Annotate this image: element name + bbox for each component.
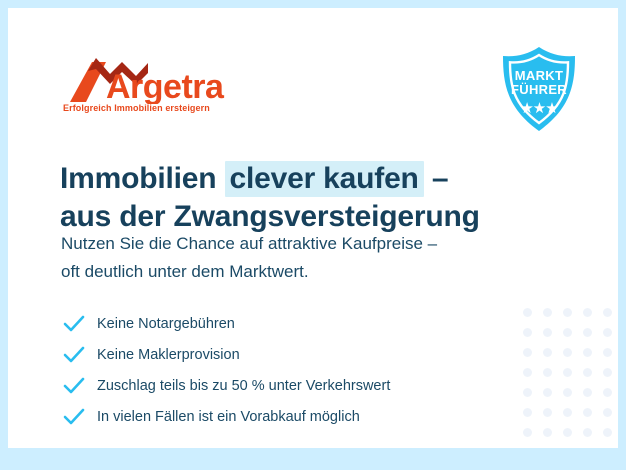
- decor-dot: [583, 368, 592, 377]
- decor-dot: [603, 328, 612, 337]
- badge-line-1: MARKT: [497, 68, 581, 83]
- decor-dot: [563, 348, 572, 357]
- decor-dot: [583, 408, 592, 417]
- banner-card: Argetra Erfolgreich Immobilien ersteiger…: [8, 8, 618, 448]
- decor-dot: [603, 388, 612, 397]
- decor-dot: [583, 428, 592, 437]
- headline-text-after: –: [432, 162, 449, 195]
- decorative-dot-grid: [523, 308, 613, 448]
- decor-dot: [523, 348, 532, 357]
- subheading-line-2: oft deutlich unter dem Marktwert.: [61, 258, 571, 286]
- decor-dot: [543, 348, 552, 357]
- decor-dot: [603, 368, 612, 377]
- decor-dot: [603, 348, 612, 357]
- decor-dot: [583, 388, 592, 397]
- svg-text:Argetra: Argetra: [106, 68, 225, 104]
- decor-dot: [563, 368, 572, 377]
- headline-text-before: Immobilien: [60, 162, 216, 195]
- check-icon: [63, 375, 89, 397]
- check-icon: [63, 313, 89, 335]
- decor-dot: [523, 428, 532, 437]
- badge-line-2: FÜHRER: [497, 82, 581, 97]
- benefit-label: Zuschlag teils bis zu 50 % unter Verkehr…: [97, 376, 390, 396]
- decor-dot: [563, 408, 572, 417]
- decor-dot: [603, 428, 612, 437]
- decor-dot: [523, 308, 532, 317]
- decor-dot: [523, 388, 532, 397]
- page-title: Immobilien clever kaufen – aus der Zwang…: [60, 160, 560, 236]
- decor-dot: [563, 428, 572, 437]
- subheading-line-1: Nutzen Sie die Chance auf attraktive Kau…: [61, 230, 571, 258]
- market-leader-badge: MARKT FÜHRER ★★★: [497, 44, 581, 134]
- decor-dot: [523, 328, 532, 337]
- list-item: Keine Notargebühren: [63, 308, 513, 339]
- headline-highlight: clever kaufen: [225, 161, 424, 197]
- decor-dot: [583, 348, 592, 357]
- benefit-label: In vielen Fällen ist ein Vorabkauf mögli…: [97, 407, 360, 427]
- check-icon: [63, 344, 89, 366]
- decor-dot: [543, 328, 552, 337]
- logo-tagline: Erfolgreich Immobilien ersteigern: [63, 103, 210, 113]
- list-item: In vielen Fällen ist ein Vorabkauf mögli…: [63, 401, 513, 432]
- decor-dot: [523, 408, 532, 417]
- decor-dot: [543, 388, 552, 397]
- benefit-label: Keine Maklerprovision: [97, 345, 240, 365]
- decor-dot: [543, 428, 552, 437]
- badge-stars: ★★★: [497, 99, 581, 117]
- decor-dot: [603, 308, 612, 317]
- list-item: Zuschlag teils bis zu 50 % unter Verkehr…: [63, 370, 513, 401]
- decor-dot: [543, 368, 552, 377]
- argetra-roof-a-icon: Argetra: [62, 54, 252, 104]
- decor-dot: [603, 408, 612, 417]
- argetra-logo: Argetra Erfolgreich Immobilien ersteiger…: [62, 54, 252, 120]
- decor-dot: [563, 328, 572, 337]
- decor-dot: [543, 308, 552, 317]
- subheading: Nutzen Sie die Chance auf attraktive Kau…: [61, 230, 571, 286]
- decor-dot: [543, 408, 552, 417]
- list-item: Keine Maklerprovision: [63, 339, 513, 370]
- check-icon: [63, 406, 89, 428]
- benefit-label: Keine Notargebühren: [97, 314, 235, 334]
- headline-line-1: Immobilien clever kaufen –: [60, 160, 560, 198]
- decor-dot: [523, 368, 532, 377]
- decor-dot: [583, 308, 592, 317]
- decor-dot: [563, 308, 572, 317]
- decor-dot: [583, 328, 592, 337]
- promo-banner: Argetra Erfolgreich Immobilien ersteiger…: [0, 0, 626, 470]
- benefits-list: Keine Notargebühren Keine Maklerprovisio…: [63, 308, 513, 432]
- decor-dot: [563, 388, 572, 397]
